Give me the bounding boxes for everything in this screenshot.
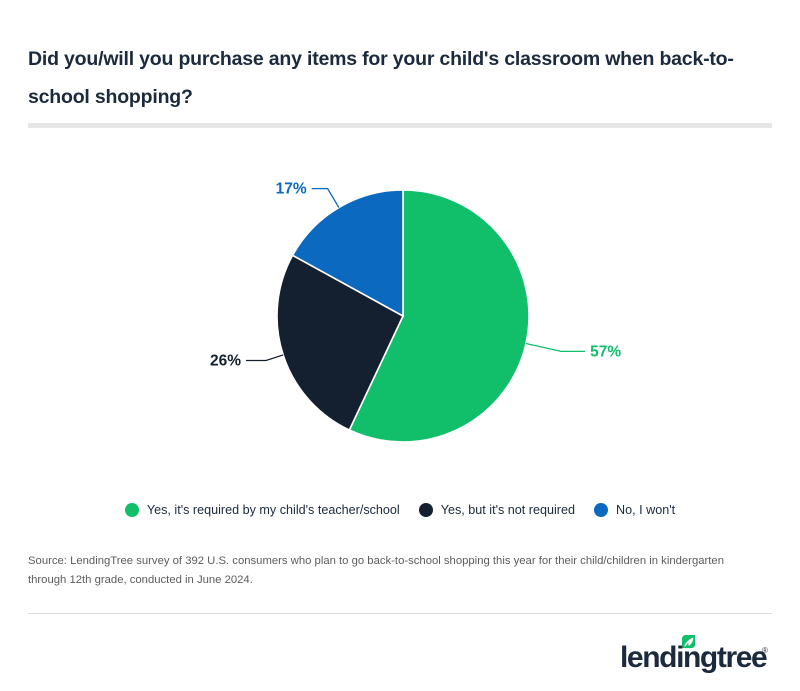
pie-chart: 57% 26% 17% <box>0 150 800 480</box>
logo-wordmark: lendingtree <box>620 641 767 674</box>
slice-value-label-green: 57% <box>590 343 621 360</box>
leader-line-green <box>526 343 585 351</box>
leader-line-blue <box>312 189 339 208</box>
legend-swatch-blue-icon <box>594 503 608 517</box>
pie-chart-svg: 57% 26% 17% <box>0 150 800 480</box>
infographic-page: Did you/will you purchase any items for … <box>0 0 800 691</box>
footer: lendingtree ® <box>0 625 800 685</box>
source-note: Source: LendingTree survey of 392 U.S. c… <box>28 552 758 590</box>
slice-value-label-navy: 26% <box>210 353 241 370</box>
legend-label-2: No, I won't <box>616 503 675 517</box>
legend-swatch-green-icon <box>125 503 139 517</box>
footer-divider <box>28 613 772 614</box>
page-title: Did you/will you purchase any items for … <box>28 40 742 116</box>
legend-item-1[interactable]: Yes, but it's not required <box>419 503 575 517</box>
chart-legend: Yes, it's required by my child's teacher… <box>0 495 800 525</box>
legend-label-1: Yes, but it's not required <box>441 503 575 517</box>
lendingtree-logo-svg: lendingtree ® <box>620 634 772 674</box>
legend-item-2[interactable]: No, I won't <box>594 503 675 517</box>
legend-swatch-navy-icon <box>419 503 433 517</box>
title-divider <box>28 123 772 128</box>
lendingtree-logo[interactable]: lendingtree ® <box>620 633 772 675</box>
leader-line-navy <box>246 355 283 361</box>
legend-label-0: Yes, it's required by my child's teacher… <box>147 503 400 517</box>
slice-value-label-blue: 17% <box>276 181 307 198</box>
logo-registered-mark: ® <box>762 646 768 655</box>
legend-item-0[interactable]: Yes, it's required by my child's teacher… <box>125 503 400 517</box>
